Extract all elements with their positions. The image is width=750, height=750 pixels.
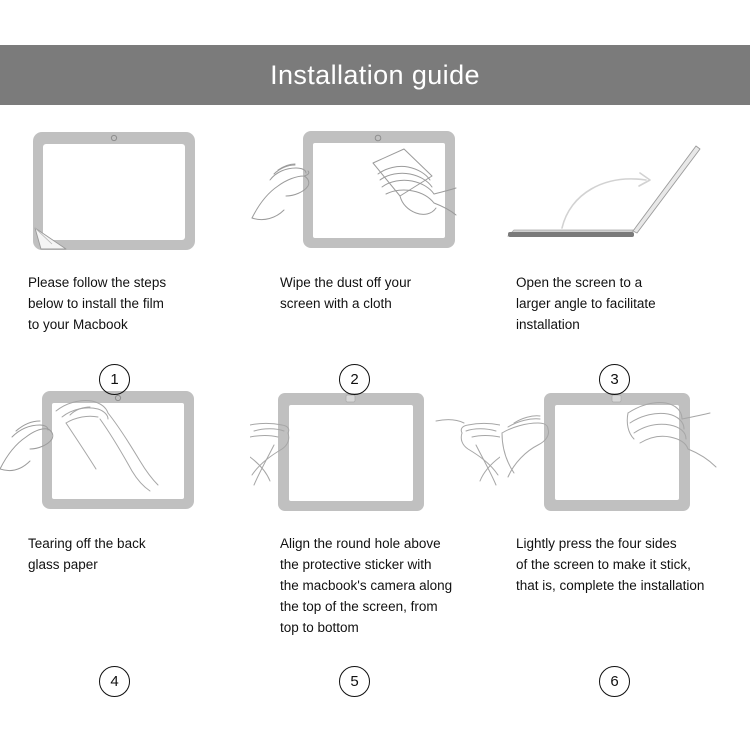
page-title: Installation guide <box>270 62 480 89</box>
screen-held-by-two-hands-aligning-icon <box>250 379 500 519</box>
step-number-badge-4: 4 <box>99 666 130 697</box>
step-illustration-3 <box>500 118 750 258</box>
step-illustration-2 <box>250 118 500 258</box>
step-number-badge-5: 5 <box>339 666 370 697</box>
step-card-5: Align the round hole above the protectiv… <box>250 379 500 638</box>
step-card-3: Open the screen to a larger angle to fac… <box>500 118 750 335</box>
screen-with-hand-pressing-sides-icon <box>500 379 750 519</box>
step-number-badge-3: 3 <box>599 364 630 395</box>
step-number-badge-1: 1 <box>99 364 130 395</box>
step-illustration-4 <box>0 379 250 519</box>
header-banner: Installation guide <box>0 45 750 105</box>
screen-with-hand-wiping-cloth-icon <box>250 118 500 258</box>
step-illustration-1 <box>0 118 250 258</box>
step-caption-6: Lightly press the four sides of the scre… <box>500 533 750 596</box>
step-caption-3: Open the screen to a larger angle to fac… <box>500 272 750 335</box>
step-card-4: Tearing off the back glass paper <box>0 379 250 638</box>
step-illustration-6 <box>500 379 750 519</box>
screen-with-peeling-film-corner-icon <box>0 118 250 258</box>
step-caption-4: Tearing off the back glass paper <box>0 533 250 575</box>
step-card-6: Lightly press the four sides of the scre… <box>500 379 750 638</box>
step-caption-1: Please follow the steps below to install… <box>0 272 250 335</box>
step-caption-2: Wipe the dust off your screen with a clo… <box>250 272 500 314</box>
step-number-badge-2: 2 <box>339 364 370 395</box>
step-number-badge-6: 6 <box>599 666 630 697</box>
laptop-side-view-opening-lid-icon <box>500 118 750 258</box>
step-card-1: Please follow the steps below to install… <box>0 118 250 335</box>
step-card-2: Wipe the dust off your screen with a clo… <box>250 118 500 335</box>
step-caption-5: Align the round hole above the protectiv… <box>250 533 500 638</box>
step-illustration-5 <box>250 379 500 519</box>
screen-with-hand-tearing-back-paper-icon <box>0 379 250 519</box>
